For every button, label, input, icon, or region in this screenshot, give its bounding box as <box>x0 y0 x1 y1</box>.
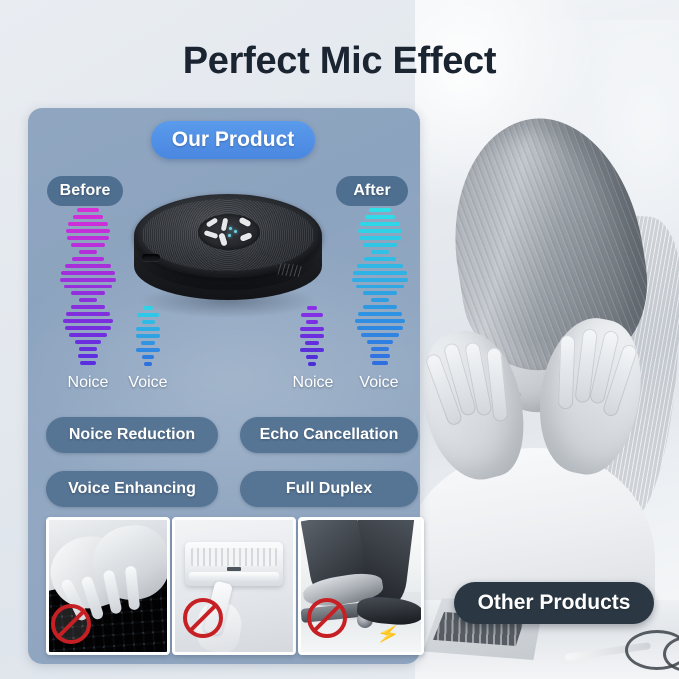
before-badge: Before <box>47 176 123 206</box>
call-end-button-icon[interactable] <box>218 232 228 246</box>
prohibited-icon <box>51 604 91 644</box>
waveform-before-noise <box>58 208 118 368</box>
prohibited-icon <box>307 598 347 638</box>
volume-up-button-icon[interactable] <box>238 217 251 228</box>
other-products-badge: Other Products <box>454 582 654 624</box>
blocked-noise-photo-keyboard <box>46 517 170 655</box>
volume-down-button-icon[interactable] <box>204 230 219 239</box>
bluetooth-button-icon[interactable] <box>239 232 252 242</box>
call-answer-button-icon[interactable] <box>221 218 229 232</box>
frustrated-user-photo <box>415 0 679 679</box>
label-after-noise: Noice <box>276 374 350 392</box>
feature-pill-noise-reduction[interactable]: Noice Reduction <box>46 417 218 453</box>
label-before-voice: Voice <box>112 374 184 392</box>
speakerphone-device <box>128 192 328 317</box>
device-control-cluster[interactable] <box>198 214 260 250</box>
status-led-2 <box>234 230 237 233</box>
after-badge: After <box>336 176 408 206</box>
usb-c-port <box>142 254 160 261</box>
noise-lightning-icon: ⚡ <box>375 622 401 647</box>
mute-button-icon[interactable] <box>206 217 219 228</box>
ac-air-flap <box>189 572 279 581</box>
prohibited-icon <box>183 598 223 638</box>
blocked-noise-photo-air-conditioner <box>172 517 296 655</box>
page-title: Perfect Mic Effect <box>0 40 679 83</box>
poster-canvas: Perfect Mic Effect Our Product Before Af… <box>0 0 679 679</box>
label-after-voice: Voice <box>342 374 416 392</box>
our-product-badge: Our Product <box>151 121 315 159</box>
feature-pill-echo-cancellation[interactable]: Echo Cancellation <box>240 417 418 453</box>
ac-display <box>227 567 241 571</box>
feature-pill-voice-enhancing[interactable]: Voice Enhancing <box>46 471 218 507</box>
blocked-noise-photo-footsteps: ⚡ <box>298 517 424 655</box>
speaker-grille <box>275 263 302 278</box>
waveform-after-voice <box>350 208 410 368</box>
status-led-1 <box>229 227 232 230</box>
ac-vent-louvers <box>191 548 277 566</box>
feature-pill-full-duplex[interactable]: Full Duplex <box>240 471 418 507</box>
status-led-3 <box>228 234 231 237</box>
